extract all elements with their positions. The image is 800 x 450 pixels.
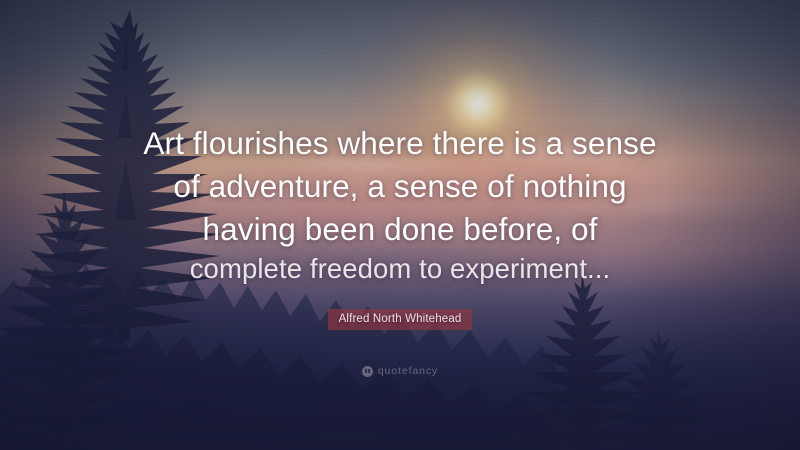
author-badge-container: Alfred North Whitehead xyxy=(0,309,800,330)
quote-line-2: of adventure, a sense of nothing xyxy=(80,165,720,208)
quotefancy-circle-logo-icon xyxy=(362,366,373,377)
quote-poster: Art flourishes where there is a sense of… xyxy=(0,0,800,450)
watermark-brand-label: quotefancy xyxy=(378,365,438,377)
quote-line-1: Art flourishes where there is a sense xyxy=(80,122,720,165)
quote-text-block: Art flourishes where there is a sense of… xyxy=(0,122,800,288)
quote-line-3: having been done before, of xyxy=(80,208,720,251)
quote-line-4: complete freedom to experiment... xyxy=(80,250,720,287)
author-name-badge[interactable]: Alfred North Whitehead xyxy=(328,309,473,330)
watermark: quotefancy xyxy=(0,365,800,377)
